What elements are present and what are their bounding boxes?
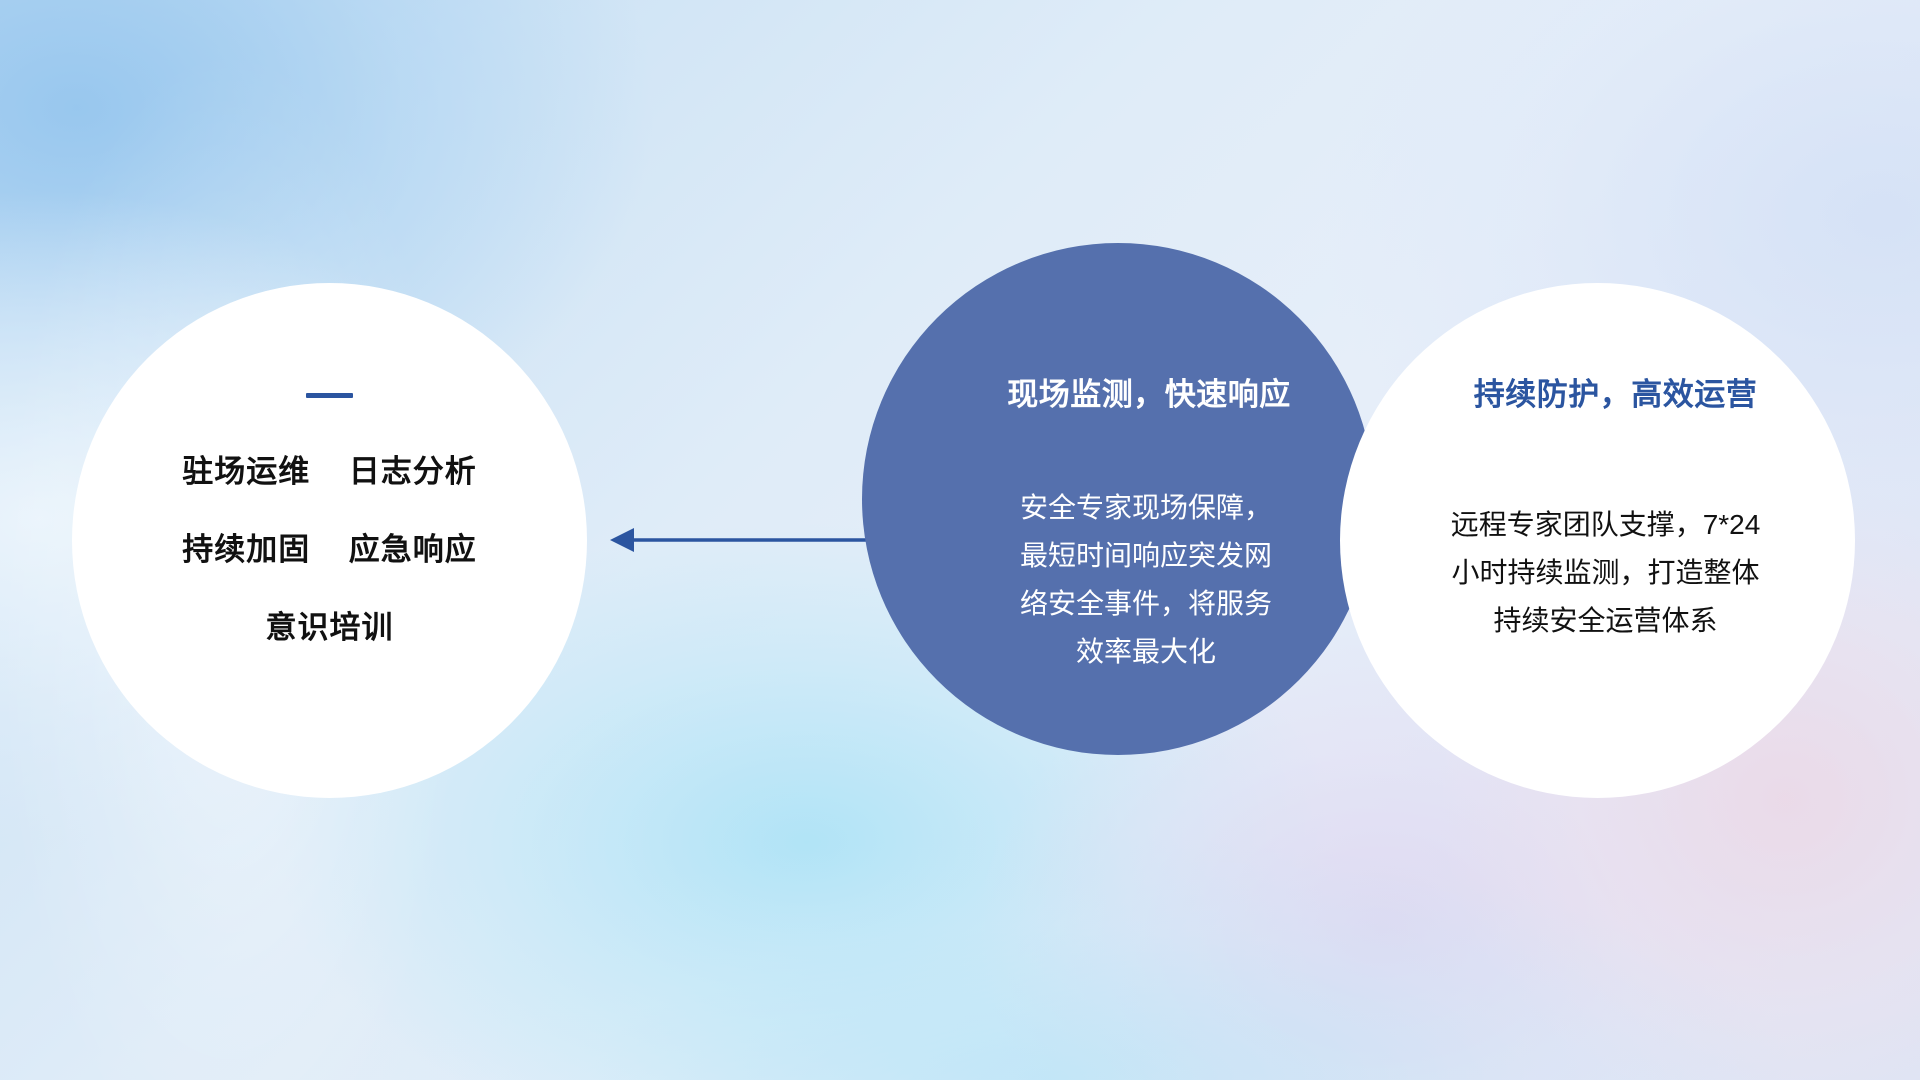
middle-node-body-line-2: 最短时间响应突发网: [928, 532, 1364, 580]
slide-canvas: 驻场运维 日志分析 持续加固 应急响应 意识培训 现场监测，快速响应 安全专家现…: [0, 0, 1920, 1080]
middle-node-body-line-4: 效率最大化: [928, 628, 1364, 676]
left-node[interactable]: 驻场运维 日志分析 持续加固 应急响应 意识培训: [72, 283, 587, 798]
right-node-body-line-3: 持续安全运营体系: [1370, 597, 1841, 645]
right-node-body-line-2: 小时持续监测，打造整体: [1370, 549, 1841, 597]
middle-node-body-line-3: 络安全事件，将服务: [928, 580, 1364, 628]
left-node-line-3: 意识培训: [266, 612, 394, 643]
left-node-line-2: 持续加固 应急响应: [182, 534, 476, 565]
middle-node-body: 安全专家现场保障， 最短时间响应突发网 络安全事件，将服务 效率最大化: [862, 484, 1374, 676]
left-node-line-1: 驻场运维 日志分析: [182, 456, 476, 487]
arrow-left-icon: [600, 500, 890, 580]
middle-node-title: 现场监测，快速响应: [862, 369, 1374, 414]
right-node-title: 持续防护，高效运营: [1340, 369, 1855, 414]
middle-node[interactable]: 现场监测，快速响应 安全专家现场保障， 最短时间响应突发网 络安全事件，将服务 …: [862, 243, 1374, 755]
left-node-divider: [306, 393, 353, 398]
right-node[interactable]: 持续防护，高效运营 远程专家团队支撑，7*24 小时持续监测，打造整体 持续安全…: [1340, 283, 1855, 798]
right-node-body: 远程专家团队支撑，7*24 小时持续监测，打造整体 持续安全运营体系: [1340, 501, 1855, 645]
right-node-body-line-1: 远程专家团队支撑，7*24: [1370, 501, 1841, 549]
middle-node-body-line-1: 安全专家现场保障，: [928, 484, 1364, 532]
